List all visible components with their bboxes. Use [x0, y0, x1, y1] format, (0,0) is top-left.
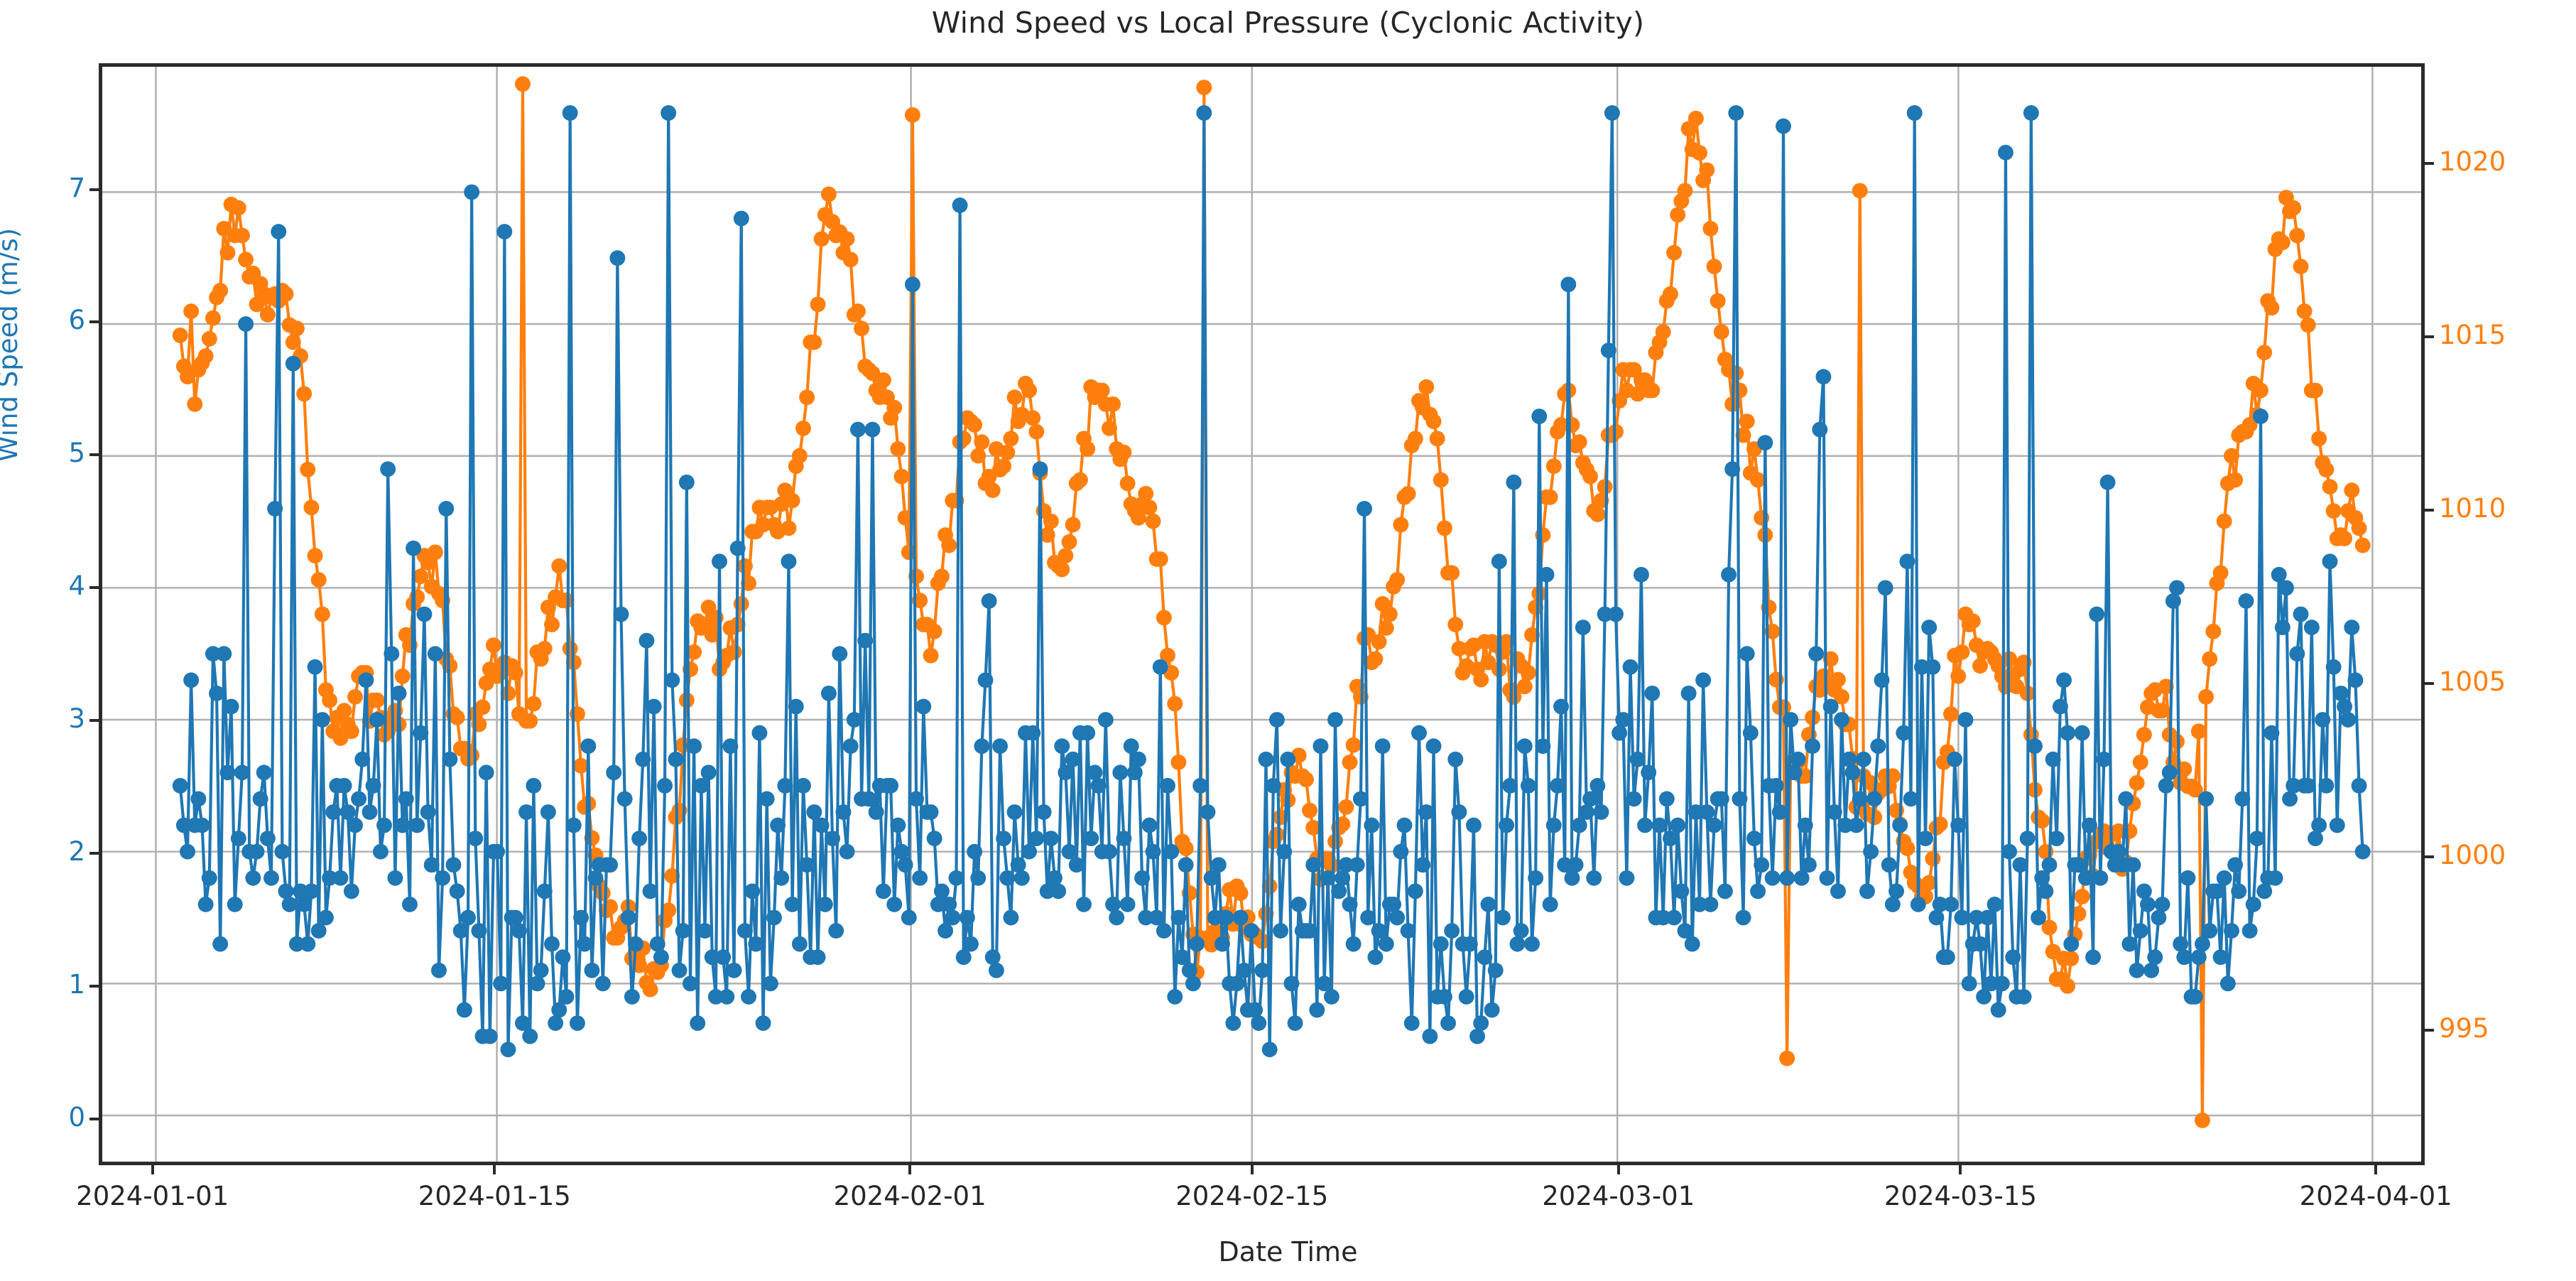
- x-tick-label: 2024-02-15: [1146, 1181, 1359, 1211]
- plot-area: [99, 63, 2425, 1165]
- x-tick-mark: [151, 1165, 154, 1174]
- left-tick-label: 5: [7, 438, 85, 468]
- left-tick-label: 6: [7, 305, 85, 335]
- right-tick-mark: [2425, 335, 2434, 338]
- x-tick-mark: [493, 1165, 496, 1174]
- x-tick-label: 2024-01-15: [388, 1181, 601, 1211]
- left-tick-label: 2: [7, 836, 85, 867]
- right-tick-mark: [2425, 682, 2434, 685]
- x-tick-mark: [1617, 1165, 1620, 1174]
- right-tick-mark: [2425, 855, 2434, 858]
- left-tick-mark: [89, 453, 99, 456]
- x-tick-mark: [908, 1165, 911, 1174]
- x-tick-label: 2024-02-01: [803, 1181, 1016, 1211]
- right-tick-mark: [2425, 1029, 2434, 1032]
- left-tick-label: 0: [7, 1102, 85, 1133]
- left-tick-mark: [89, 586, 99, 589]
- left-tick-mark: [89, 719, 99, 722]
- right-tick-label: 1015: [2439, 320, 2576, 350]
- right-tick-label: 1020: [2439, 146, 2576, 177]
- right-tick-mark: [2425, 509, 2434, 512]
- wind-speed-series: [173, 105, 2371, 1057]
- x-tick-mark: [1959, 1165, 1962, 1174]
- x-tick-label: 2024-04-01: [2269, 1181, 2482, 1211]
- left-tick-mark: [89, 852, 99, 855]
- right-tick-label: 1010: [2439, 493, 2576, 524]
- left-tick-mark: [89, 320, 99, 323]
- left-tick-label: 1: [7, 969, 85, 1000]
- left-tick-mark: [89, 1118, 99, 1120]
- x-tick-mark: [2374, 1165, 2377, 1174]
- data-layer: [102, 67, 2421, 1162]
- left-tick-label: 3: [7, 703, 85, 734]
- right-tick-label: 995: [2439, 1013, 2576, 1044]
- x-tick-mark: [1251, 1165, 1254, 1174]
- right-tick-label: 1005: [2439, 666, 2576, 697]
- x-tick-label: 2024-03-15: [1854, 1181, 2067, 1211]
- wind-speed-series-line: [180, 113, 2363, 1049]
- x-tick-label: 2024-03-01: [1512, 1181, 1725, 1211]
- x-tick-label: 2024-01-01: [46, 1181, 259, 1211]
- left-tick-mark: [89, 985, 99, 988]
- figure-canvas: Wind Speed vs Local Pressure (Cyclonic A…: [0, 0, 2576, 1281]
- left-tick-label: 4: [7, 571, 85, 601]
- right-tick-label: 1000: [2439, 840, 2576, 870]
- x-axis-label: Date Time: [0, 1236, 2576, 1268]
- left-tick-label: 7: [7, 173, 85, 203]
- right-tick-mark: [2425, 162, 2434, 165]
- chart-title: Wind Speed vs Local Pressure (Cyclonic A…: [0, 6, 2576, 40]
- left-tick-mark: [89, 188, 99, 191]
